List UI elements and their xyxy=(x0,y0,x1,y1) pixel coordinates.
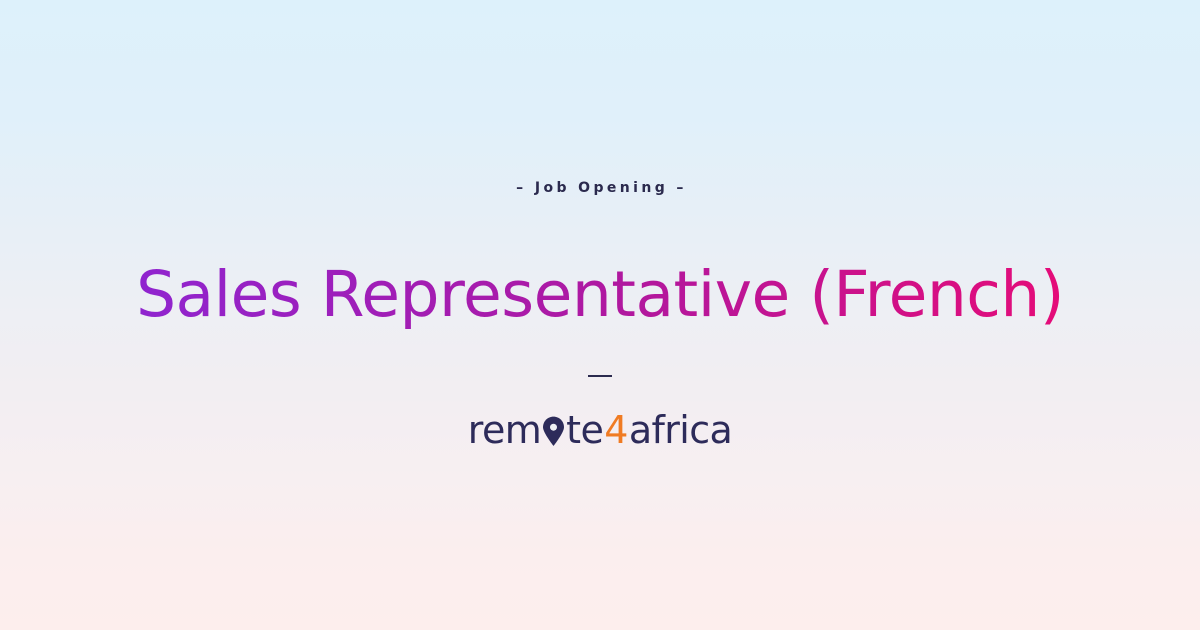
eyebrow-label: – Job Opening – xyxy=(513,181,687,195)
logo-text-middle: te xyxy=(566,411,603,449)
job-opening-og-card: – Job Opening – Sales Representative (Fr… xyxy=(0,0,1200,630)
page-title: Sales Representative (French) xyxy=(66,261,1134,329)
brand-logo[interactable]: rem te 4 africa xyxy=(468,411,733,449)
card-content: – Job Opening – Sales Representative (Fr… xyxy=(0,181,1200,449)
logo-text-suffix: africa xyxy=(629,411,732,449)
map-pin-icon xyxy=(541,416,566,446)
logo-numeral-four: 4 xyxy=(603,411,629,449)
divider xyxy=(588,375,612,377)
logo-text-prefix: rem xyxy=(468,411,541,449)
